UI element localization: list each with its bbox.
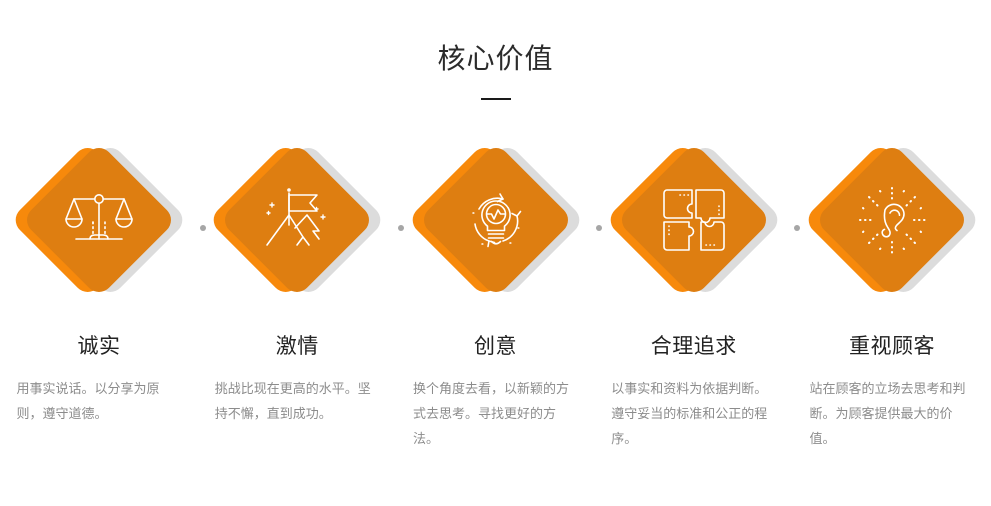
diamond-main-layer [814,142,970,298]
value-item-passion[interactable]: 激情 挑战比现在更高的水平。坚持不懈，直到成功。 [202,140,392,426]
value-title: 重视顾客 [849,334,935,360]
value-title: 激情 [276,334,319,360]
page-header: 核心价值 [0,0,991,100]
value-item-creativity[interactable]: 创意 换个角度去看，以新颖的方式去思考。寻找更好的方法。 [401,140,591,451]
diamond-main-layer [418,142,574,298]
diamond-main-layer [616,142,772,298]
value-title: 诚实 [78,334,121,360]
value-item-fair-pursuit[interactable]: 合理追求 以事实和资料为依据判断。遵守妥当的标准和公正的程序。 [599,140,789,451]
page-title: 核心价值 [0,42,991,76]
value-description: 以事实和资料为依据判断。遵守妥当的标准和公正的程序。 [611,376,776,451]
diamond-badge[interactable] [812,140,972,300]
title-divider [481,98,511,100]
value-description: 换个角度去看，以新颖的方式去思考。寻找更好的方法。 [413,376,578,451]
diamond-badge[interactable] [614,140,774,300]
value-item-customer-focus[interactable]: 重视顾客 站在顾客的立场去思考和判断。为顾客提供最大的价值。 [797,140,987,451]
diamond-badge[interactable] [217,140,377,300]
diamond-badge[interactable] [416,140,576,300]
value-description: 用事实说话。以分享为原则，遵守道德。 [17,376,182,426]
diamond-badge[interactable] [19,140,179,300]
core-values-list: 诚实 用事实说话。以分享为原则，遵守道德。 [0,140,991,451]
value-title: 创意 [474,334,517,360]
diamond-main-layer [219,142,375,298]
diamond-main-layer [21,142,177,298]
value-description: 挑战比现在更高的水平。坚持不懈，直到成功。 [215,376,380,426]
value-title: 合理追求 [651,334,737,360]
value-description: 站在顾客的立场去思考和判断。为顾客提供最大的价值。 [810,376,975,451]
value-item-honesty[interactable]: 诚实 用事实说话。以分享为原则，遵守道德。 [4,140,194,426]
